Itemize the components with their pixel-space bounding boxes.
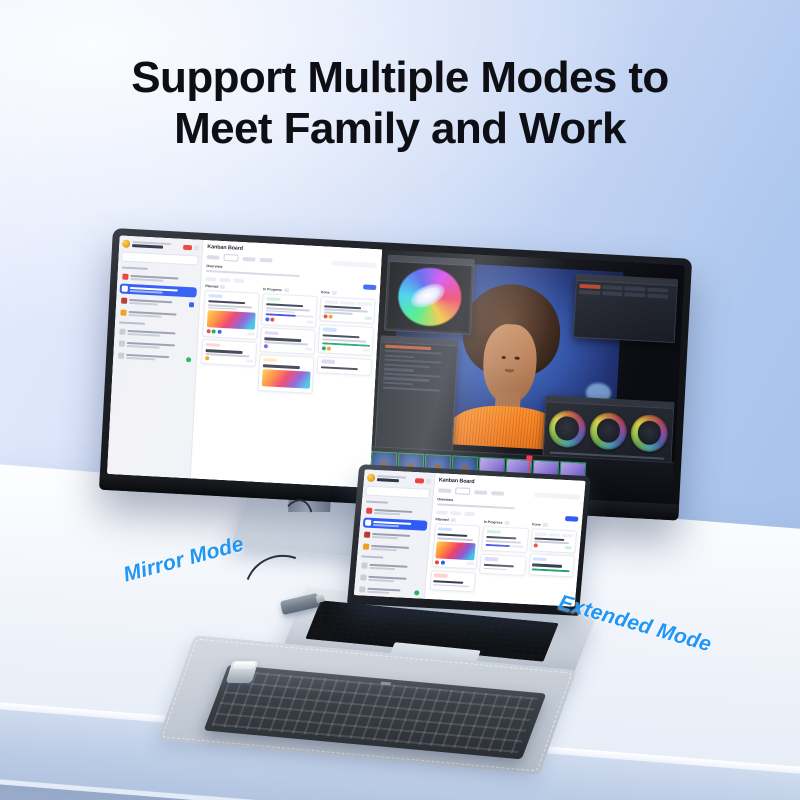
design-icon: [120, 310, 126, 316]
eye-left: [501, 356, 506, 359]
chart-icon: [361, 562, 368, 568]
card-cover-image: [436, 541, 476, 560]
board-icon: [365, 520, 372, 526]
card-cover-image: [207, 311, 256, 331]
sidebar-item-label: [374, 509, 426, 517]
sidebar-item-label: [372, 532, 424, 540]
card-chip: [438, 527, 452, 531]
avatar: [534, 544, 538, 548]
color-adjust-panel[interactable]: [375, 335, 459, 453]
effect-tile[interactable]: [579, 284, 600, 289]
column-title: In Progress: [484, 520, 503, 525]
card-cover-image: [262, 369, 311, 389]
card-footer: [534, 544, 573, 550]
kanban-columns: Planned: [200, 284, 376, 400]
task-card[interactable]: [260, 328, 316, 355]
task-card[interactable]: [318, 324, 374, 356]
tab-members[interactable]: [207, 255, 220, 260]
avatar: [212, 330, 216, 334]
adjust-row[interactable]: [383, 386, 440, 391]
task-card[interactable]: [201, 339, 257, 366]
color-wheel-lift[interactable]: [548, 409, 587, 448]
card-meta: [466, 562, 473, 565]
effect-tile[interactable]: [602, 291, 623, 296]
card-chip: [208, 294, 222, 298]
card-footer: [206, 330, 254, 337]
card-title: [321, 366, 358, 370]
avatar: [264, 344, 268, 348]
notification-badge[interactable]: [183, 244, 192, 249]
avatar: [367, 474, 376, 482]
people-icon: [119, 340, 125, 346]
adjust-row[interactable]: [384, 368, 414, 372]
workspace-name: [132, 241, 181, 250]
board-icon: [366, 508, 373, 514]
kanban-column-planned: Planned: [200, 284, 261, 393]
sidebar-item-label: [127, 329, 192, 337]
notification-badge[interactable]: [415, 478, 424, 483]
product-marketing-scene: Support Multiple Modes to Meet Family an…: [0, 0, 800, 800]
card-meta: [364, 317, 371, 320]
card-chip: [486, 529, 500, 533]
card-chip-row: [535, 532, 574, 537]
column-count: [542, 523, 547, 527]
card-title: [263, 364, 300, 368]
adjust-row[interactable]: [385, 345, 430, 350]
adjust-row[interactable]: [384, 377, 429, 382]
count-badge: [189, 302, 194, 307]
section-label-tools: [361, 555, 383, 558]
scope-display: [387, 262, 471, 332]
sidebar-item-label: [130, 274, 195, 282]
tab-calendar[interactable]: [243, 256, 256, 261]
monitor-screen-left-mirror: Kanban Board Overview: [107, 235, 383, 488]
kanban-columns: Planned: [429, 517, 578, 600]
card-chip: [532, 557, 546, 561]
effect-tile[interactable]: [625, 287, 646, 292]
kanban-main: Kanban Board Overview: [424, 473, 585, 606]
sidebar-item-bug-tracking[interactable]: [362, 529, 427, 542]
menu-icon[interactable]: [194, 245, 199, 250]
board-search-input[interactable]: [331, 261, 377, 268]
card-chip: [263, 358, 277, 362]
add-task-button[interactable]: [565, 516, 578, 522]
card-title: [483, 563, 513, 567]
sort-button[interactable]: [436, 510, 447, 515]
kanban-column-done: Done: [316, 290, 377, 399]
adjust-row[interactable]: [383, 382, 413, 386]
wallet-icon: [359, 586, 366, 592]
card-chip: [322, 328, 336, 332]
sidebar-search-input[interactable]: [366, 486, 431, 499]
sidebar-item-label: [368, 575, 420, 583]
card-meta: [246, 359, 253, 362]
avatar: [217, 330, 221, 334]
bug-icon: [364, 532, 371, 538]
board-icon: [122, 286, 128, 292]
sidebar-search-input[interactable]: [121, 251, 199, 265]
card-meta: [565, 546, 572, 549]
sidebar-item-label: [128, 310, 193, 318]
filter-button[interactable]: [220, 277, 231, 282]
column-title: Planned: [435, 517, 449, 522]
bug-icon: [121, 298, 127, 304]
card-chip: [206, 343, 220, 347]
task-card[interactable]: [481, 526, 529, 553]
card-meta: [247, 332, 254, 335]
sidebar-item-accounting[interactable]: [357, 584, 422, 597]
card-chip: [484, 557, 498, 561]
page-title: Support Multiple Modes to Meet Family an…: [0, 52, 800, 155]
card-desc: [483, 567, 507, 570]
tab-board[interactable]: [455, 487, 471, 495]
column-title: Done: [532, 522, 541, 526]
card-title: [433, 580, 463, 584]
color-wheel-gain[interactable]: [630, 414, 669, 453]
section-label-boards: [122, 267, 148, 270]
card-progress: [532, 568, 571, 572]
avatar: [323, 314, 327, 318]
adjust-row[interactable]: [384, 363, 429, 368]
column-title: In Progress: [263, 287, 282, 292]
sidebar-item-label: [371, 544, 423, 552]
sidebar-item-product-roadmap[interactable]: [364, 505, 429, 518]
chart-icon: [119, 328, 125, 334]
card-desc: [433, 584, 468, 588]
column-count: [284, 288, 289, 292]
avatar: [205, 356, 209, 360]
task-card[interactable]: [530, 528, 577, 553]
card-chip: [321, 359, 335, 363]
sidebar-item-label: [126, 353, 184, 361]
kanban-column-in-progress: In Progress: [477, 520, 529, 598]
kanban-sidebar: [107, 235, 204, 478]
video-editor-app: [370, 249, 685, 504]
color-wheels-row: [544, 402, 673, 456]
card-chip: [266, 297, 280, 301]
avatar: [270, 318, 274, 322]
share-button[interactable]: [234, 278, 245, 283]
laptop-screen: Kanban Board Overview: [354, 469, 586, 606]
menu-icon[interactable]: [426, 478, 431, 483]
column-title: Planned: [205, 284, 218, 289]
column-count: [504, 521, 509, 525]
sidebar-item-accounting[interactable]: [116, 350, 194, 364]
monitor-screen-right-extended: [370, 249, 685, 504]
filter-button[interactable]: [450, 510, 461, 515]
sidebar-item-label: [373, 520, 425, 528]
workspace-header[interactable]: [122, 240, 200, 252]
effect-tile[interactable]: [579, 290, 600, 295]
tab-board[interactable]: [224, 254, 239, 262]
column-count: [220, 285, 225, 289]
task-card[interactable]: [431, 523, 480, 569]
task-card[interactable]: [261, 293, 318, 328]
status-dot: [186, 357, 191, 362]
adjust-row[interactable]: [385, 350, 442, 355]
task-card[interactable]: [319, 296, 375, 324]
sidebar-item-label: [130, 286, 195, 294]
status-dot: [414, 590, 419, 595]
card-desc: [486, 540, 521, 544]
share-button[interactable]: [464, 511, 475, 516]
task-card[interactable]: [429, 570, 476, 593]
avatar: [329, 315, 333, 319]
people-icon: [360, 574, 367, 580]
add-task-button[interactable]: [363, 284, 376, 290]
workspace-name: [377, 475, 413, 483]
column-count: [450, 518, 455, 522]
task-card[interactable]: [528, 553, 575, 577]
sidebar-item-kanban-board[interactable]: [363, 517, 428, 530]
sidebar-item-label: [367, 587, 412, 594]
tab-calendar[interactable]: [474, 490, 487, 495]
section-label-tools: [119, 321, 145, 324]
sidebar-item-usage-analytics[interactable]: [359, 560, 424, 573]
avatar: [321, 346, 325, 350]
effect-tile[interactable]: [647, 288, 668, 293]
task-card[interactable]: [203, 290, 260, 340]
tab-covers[interactable]: [491, 491, 504, 496]
color-wheel-gamma[interactable]: [589, 411, 628, 450]
sidebar-item-label: [127, 341, 192, 349]
column-count: [331, 291, 336, 295]
card-desc: [208, 307, 238, 310]
column-title: Done: [321, 290, 330, 294]
kanban-column-planned: Planned: [429, 517, 481, 595]
avatar: [265, 318, 269, 322]
task-card[interactable]: [479, 553, 526, 576]
kanban-app-monitor: Kanban Board Overview: [107, 235, 383, 488]
card-meta: [362, 349, 369, 352]
effects-panel[interactable]: [573, 274, 678, 343]
board-icon: [122, 274, 128, 280]
tab-members[interactable]: [438, 488, 451, 493]
kanban-column-in-progress: In Progress: [258, 287, 319, 396]
sidebar-item-design-files[interactable]: [361, 541, 426, 554]
card-footer: [265, 318, 313, 325]
headline-line-2: Meet Family and Work: [0, 103, 800, 154]
sidebar-item-design-files[interactable]: [118, 307, 196, 321]
adjust-row[interactable]: [385, 354, 415, 358]
workspace-header[interactable]: [367, 474, 431, 485]
avatar: [435, 560, 439, 564]
kanban-sidebar: [354, 469, 436, 598]
avatar: [122, 240, 130, 248]
vectorscope-panel[interactable]: [384, 254, 475, 335]
card-meta: [306, 320, 313, 323]
board-search-input[interactable]: [534, 492, 580, 499]
avatar: [327, 346, 331, 350]
card-title: [532, 564, 562, 568]
effect-tile[interactable]: [602, 285, 623, 290]
avatar: [441, 560, 445, 564]
laptop: Kanban Board Overview: [295, 470, 585, 660]
effect-tile[interactable]: [647, 294, 668, 299]
sidebar-item-label: [129, 298, 187, 306]
card-desc: [437, 537, 472, 541]
wallet-icon: [118, 352, 124, 358]
tab-covers[interactable]: [260, 257, 273, 262]
card-desc: [265, 310, 295, 313]
mouth: [505, 369, 514, 373]
sidebar-item-team-members[interactable]: [358, 572, 423, 585]
card-chip: [264, 331, 278, 335]
sort-button[interactable]: [206, 277, 217, 282]
effect-tile[interactable]: [624, 293, 645, 298]
task-card[interactable]: [317, 356, 373, 376]
card-chip: [434, 573, 448, 577]
headline-line-1: Support Multiple Modes to: [131, 53, 668, 102]
sidebar-item-label: [369, 563, 421, 571]
card-progress: [485, 544, 524, 548]
kanban-column-done: Done: [526, 522, 578, 600]
card-footer: [435, 560, 474, 566]
avatar: [206, 330, 210, 334]
eye-right: [515, 356, 520, 359]
card-footer: [321, 346, 369, 353]
laptop-lid: Kanban Board Overview: [347, 464, 591, 616]
card-chip-row: [324, 300, 372, 306]
card-meta: [304, 347, 311, 350]
kanban-app-laptop: Kanban Board Overview: [354, 469, 586, 606]
task-card[interactable]: [258, 354, 315, 394]
design-icon: [363, 543, 370, 549]
kanban-main: Kanban Board Overview: [191, 240, 382, 488]
section-label-boards: [366, 501, 388, 504]
card-footer: [323, 314, 371, 321]
monitor-screen: Kanban Board Overview: [107, 235, 685, 504]
